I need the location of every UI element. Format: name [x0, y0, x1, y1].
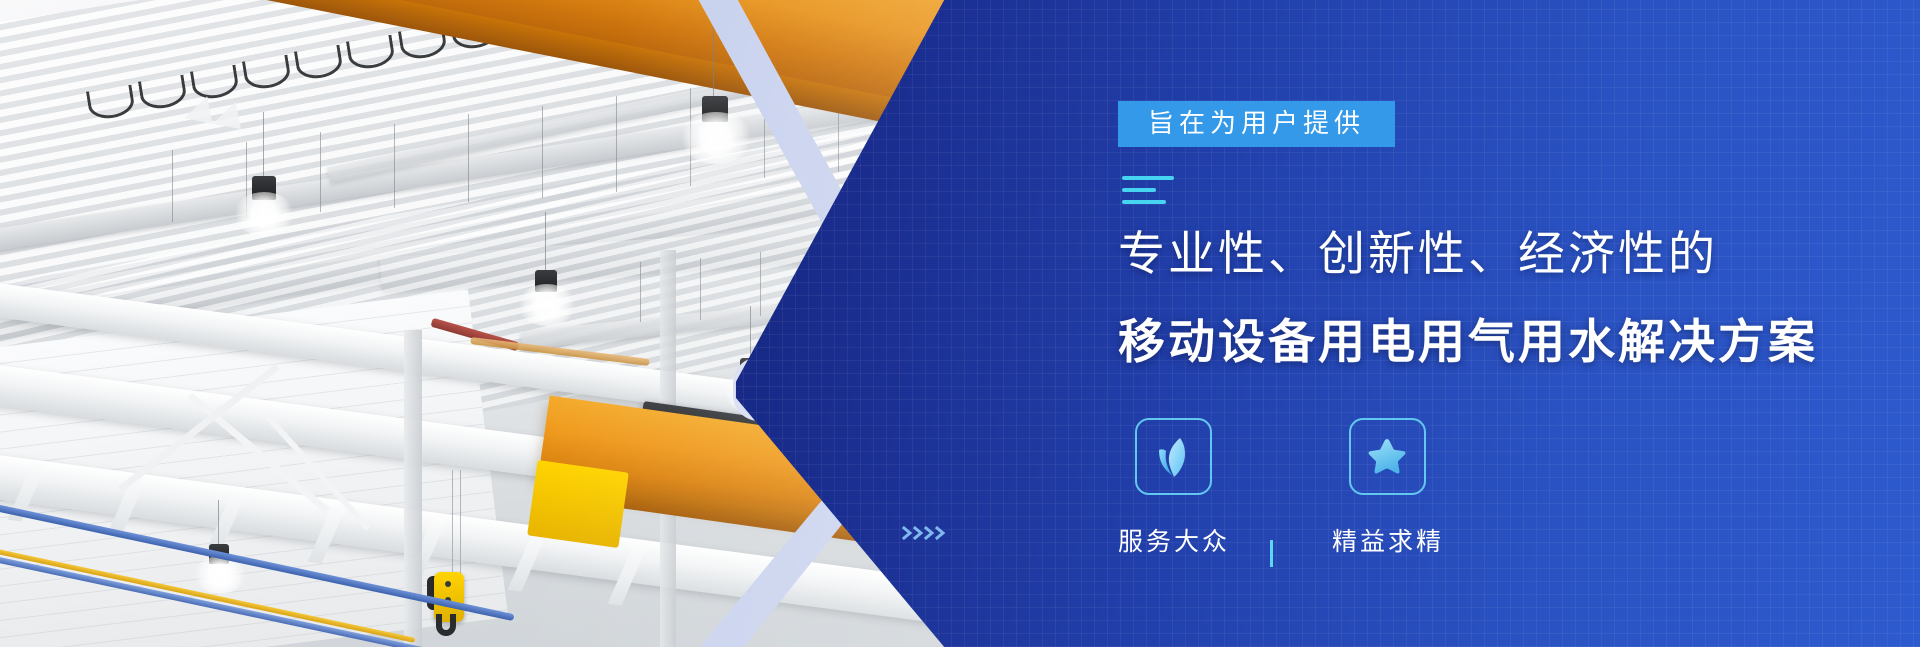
- deco-line: [1122, 200, 1166, 204]
- vertical-divider: [1270, 540, 1273, 567]
- three-lines-icon: [1122, 176, 1182, 212]
- star-icon-tile: [1349, 418, 1426, 495]
- hero-banner: 旨在为用户提供 专业性、创新性、经济性的 移动设备用电用气用水解决方案: [0, 0, 1920, 647]
- feature-item-service[interactable]: 服务大众: [1118, 418, 1228, 558]
- double-chevron-right-icon: [902, 525, 948, 541]
- star-icon: [1365, 435, 1409, 479]
- leaf-icon-tile: [1135, 418, 1212, 495]
- feature-label: 服务大众: [1118, 522, 1228, 558]
- badge-row: 旨在为用户提供: [1118, 101, 1395, 147]
- headline-primary: 专业性、创新性、经济性的: [1118, 230, 1718, 277]
- banner-content: 旨在为用户提供 专业性、创新性、经济性的 移动设备用电用气用水解决方案: [1118, 0, 1818, 647]
- feature-label: 精益求精: [1332, 522, 1442, 558]
- feature-list: 服务大众 精益求精: [1118, 418, 1442, 558]
- deco-line: [1122, 176, 1174, 180]
- leaf-icon: [1150, 434, 1196, 480]
- deco-line: [1122, 188, 1156, 192]
- feature-item-excellence[interactable]: 精益求精: [1332, 418, 1442, 558]
- headline-secondary: 移动设备用电用气用水解决方案: [1118, 318, 1818, 365]
- tagline-badge: 旨在为用户提供: [1118, 101, 1395, 147]
